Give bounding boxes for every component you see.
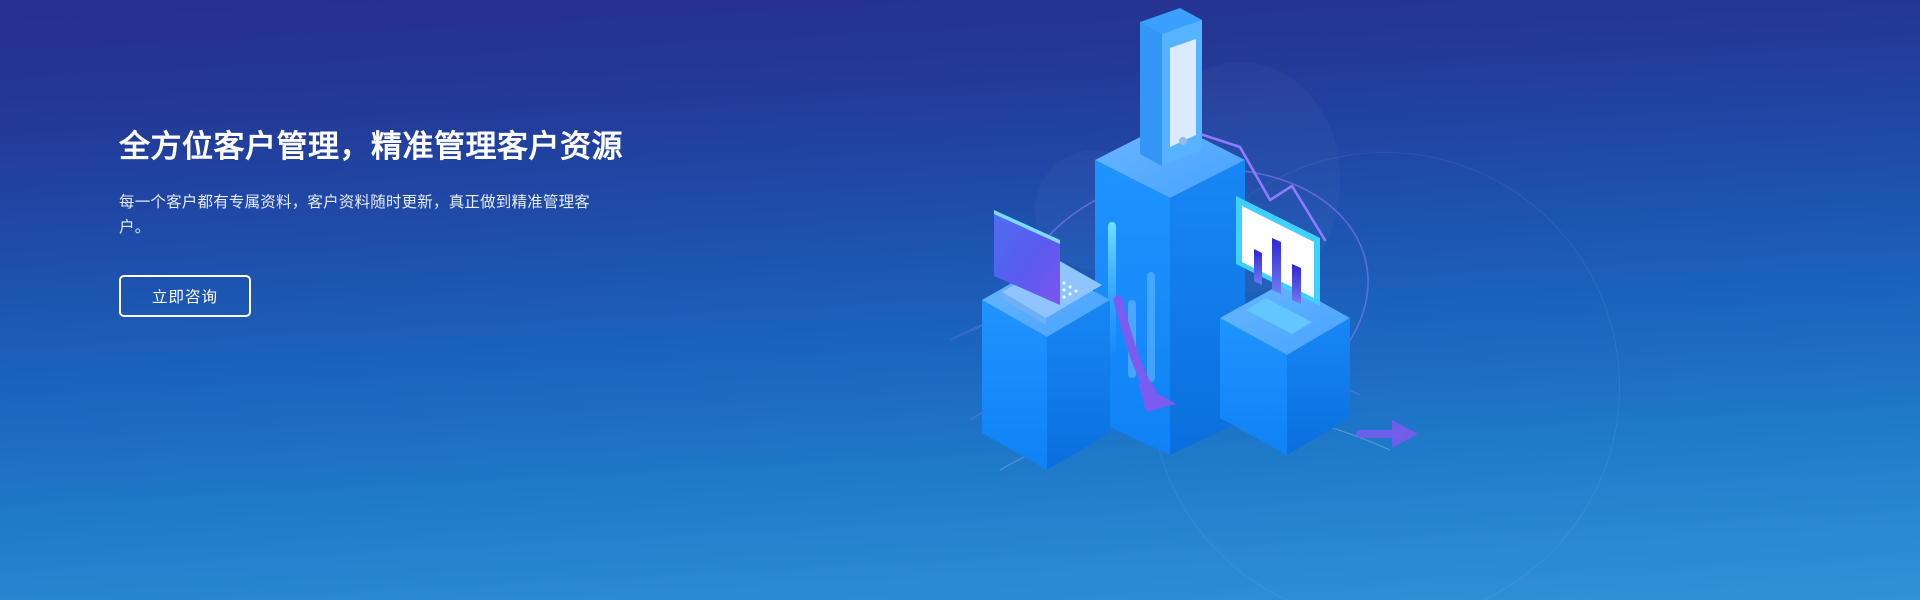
tablet <box>1136 6 1202 166</box>
hero-description: 每一个客户都有专属资料，客户资料随时更新，真正做到精准管理客户。 <box>119 190 611 241</box>
page-title: 全方位客户管理，精准管理客户资源 <box>119 126 759 168</box>
consult-now-button[interactable]: 立即咨询 <box>119 275 251 317</box>
hero-banner: 全方位客户管理，精准管理客户资源 每一个客户都有专属资料，客户资料随时更新，真正… <box>0 0 1920 600</box>
hero-illustration <box>940 0 1460 600</box>
hero-text-column: 全方位客户管理，精准管理客户资源 每一个客户都有专属资料，客户资料随时更新，真正… <box>119 126 759 317</box>
arrow-right-icon <box>1360 420 1418 448</box>
